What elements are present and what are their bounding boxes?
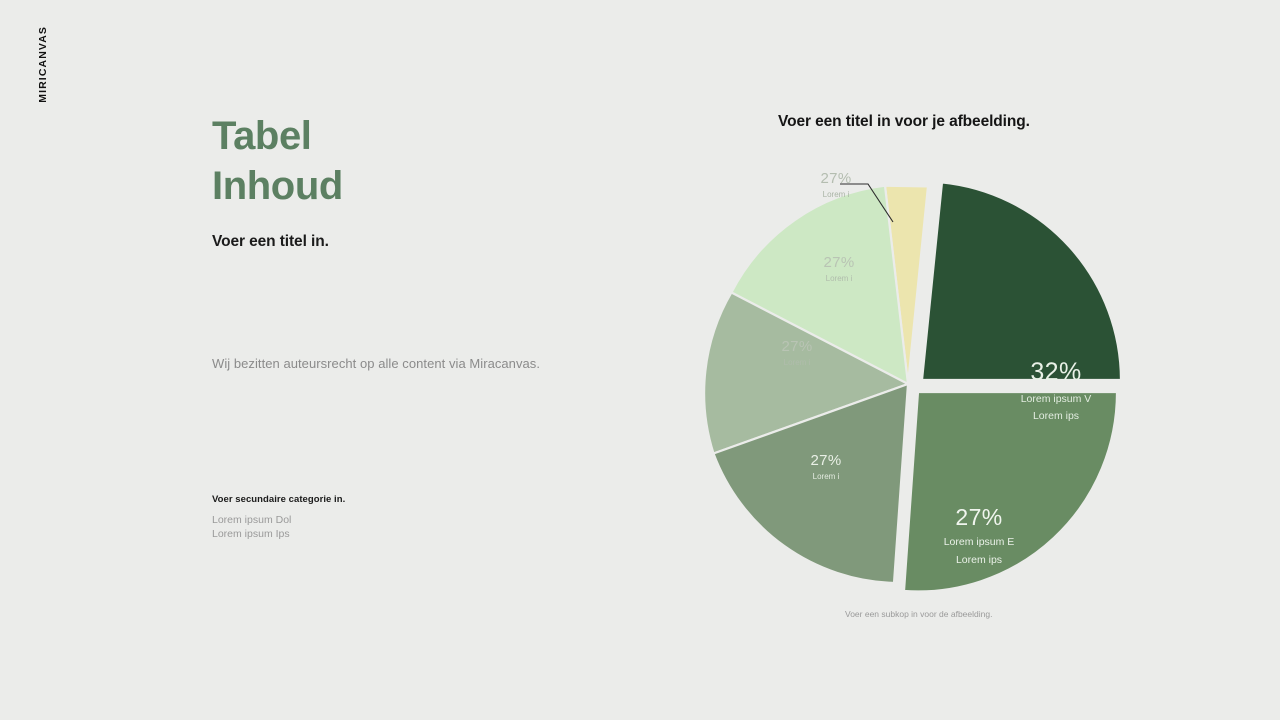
secondary-category-item: Lorem ipsum Ips bbox=[212, 528, 532, 542]
pie-chart-svg bbox=[700, 162, 1160, 592]
brand-watermark: MIRICANVAS bbox=[38, 26, 49, 103]
pie-slice-medium-green-group bbox=[904, 392, 1117, 591]
chart-subcaption: Voer een subkop in voor de afbeelding. bbox=[845, 609, 992, 619]
chart-panel: Voer een titel in voor je afbeelding. bbox=[700, 100, 1260, 640]
pie-chart[interactable]: 32% Lorem ipsum V Lorem ips 27% Lorem ip… bbox=[700, 162, 1160, 592]
secondary-category-block: Voer secundaire categorie in. Lorem ipsu… bbox=[212, 494, 532, 542]
page-title: Tabel Inhoud bbox=[212, 112, 632, 211]
page-title-line-1: Tabel bbox=[212, 112, 632, 162]
slide-canvas: MIRICANVAS Tabel Inhoud Voer een titel i… bbox=[0, 0, 1280, 720]
pie-slice-dark-green-group bbox=[922, 182, 1121, 380]
left-text-column: Tabel Inhoud Voer een titel in. bbox=[212, 112, 632, 251]
page-subtitle: Voer een titel in. bbox=[212, 233, 632, 251]
pie-slice-medium-green bbox=[904, 392, 1117, 591]
secondary-category-title: Voer secundaire categorie in. bbox=[212, 494, 532, 505]
chart-title: Voer een titel in voor je afbeelding. bbox=[778, 113, 1030, 131]
secondary-category-item: Lorem ipsum Dol bbox=[212, 514, 532, 528]
body-paragraph: Wij bezitten auteursrecht op alle conten… bbox=[212, 356, 712, 371]
page-title-line-2: Inhoud bbox=[212, 162, 632, 212]
pie-slice-dark-green bbox=[922, 182, 1121, 380]
pie-slices bbox=[704, 182, 1121, 591]
